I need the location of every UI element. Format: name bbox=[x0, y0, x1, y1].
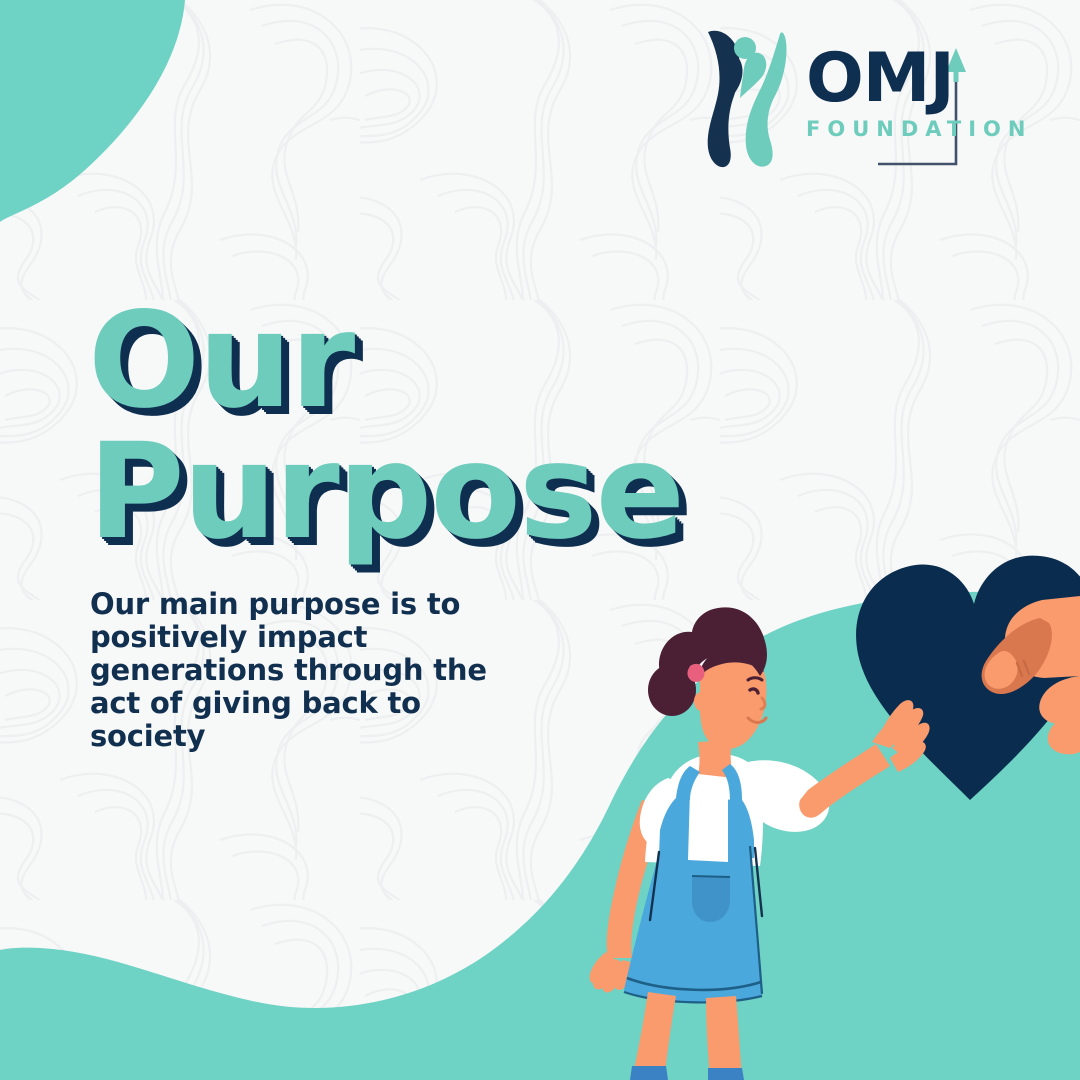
logo-tagline-text: FOUNDATION bbox=[806, 116, 996, 142]
girl-overall-dress bbox=[624, 764, 762, 1002]
body-line-1: Our main purpose is to bbox=[90, 588, 590, 621]
girl-right-arm-reaching bbox=[799, 700, 929, 818]
poster-canvas: Our Purpose Our main purpose is to posit… bbox=[0, 0, 1080, 1080]
body-line-4: act of giving back to bbox=[90, 687, 590, 720]
page-title: Our Purpose bbox=[88, 300, 708, 554]
body-line-5: society bbox=[90, 720, 590, 753]
omj-foundation-logo[interactable]: OMJ FOUNDATION bbox=[688, 26, 998, 174]
headline-line-2: Purpose bbox=[88, 431, 708, 554]
body-line-3: generations through the bbox=[90, 654, 590, 687]
hands-heart-person-icon bbox=[688, 26, 796, 171]
girl-shoes bbox=[630, 1066, 744, 1080]
body-paragraph: Our main purpose is to positively impact… bbox=[90, 588, 590, 753]
headline-line-1: Our bbox=[88, 300, 708, 423]
logo-brand-text: OMJ bbox=[806, 44, 996, 114]
body-line-2: positively impact bbox=[90, 621, 590, 654]
logo-wordmark: OMJ FOUNDATION bbox=[806, 44, 996, 166]
girl-head bbox=[648, 607, 767, 749]
